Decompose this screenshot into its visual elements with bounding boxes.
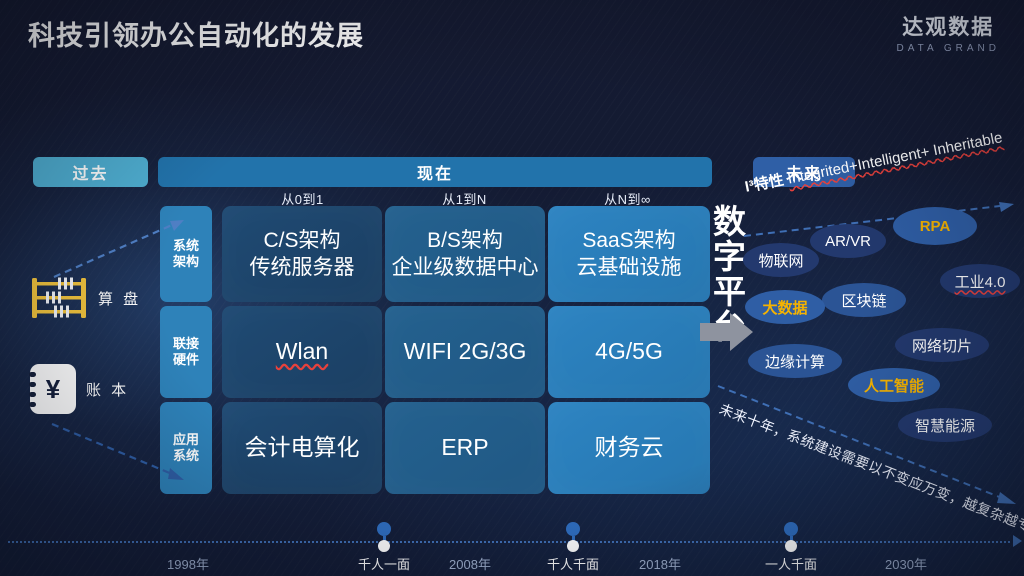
- tag-edge-computing: 边缘计算: [748, 344, 842, 378]
- grid-cell-app-finance-cloud: 财务云: [548, 402, 710, 494]
- grid-cell-hw-4g5g: 4G/5G: [548, 306, 710, 398]
- cell-line-1: B/S架构: [427, 229, 503, 252]
- cell-line-1: Wlan: [276, 337, 328, 367]
- grid-cell-arch-cs: C/S架构 传统服务器: [222, 206, 382, 302]
- grid-cell-hw-wifi: WIFI 2G/3G: [385, 306, 545, 398]
- row-label-connection-hardware: 联接硬件: [160, 306, 212, 398]
- brand-logo: 达观数据 DATA GRAND: [896, 16, 1000, 54]
- grid-cell-arch-bs: B/S架构 企业级数据中心: [385, 206, 545, 302]
- cell-text: B/S架构 企业级数据中心: [392, 227, 539, 282]
- legacy-item-ledger: ¥ 账 本: [30, 364, 129, 414]
- era-badge-now: 现在: [158, 157, 712, 187]
- ledger-icon: ¥: [30, 364, 76, 414]
- logo-english-name: DATA GRAND: [896, 43, 1000, 54]
- row-label-application-system: 应用系统: [160, 402, 212, 494]
- legacy-label-abacus: 算 盘: [98, 288, 141, 309]
- timeline-marker-0: [377, 522, 391, 552]
- timeline-milestone-2: 一人千面: [765, 554, 817, 573]
- page-title: 科技引领办公自动化的发展: [28, 14, 364, 53]
- cell-line-2: 传统服务器: [250, 256, 355, 279]
- timeline-arrow-icon: [1013, 535, 1022, 547]
- cell-line-1: C/S架构: [263, 229, 340, 252]
- timeline-year-2030: 2030年: [885, 554, 927, 573]
- era-badge-past: 过去: [33, 157, 148, 187]
- tag-ai: 人工智能: [848, 368, 940, 402]
- tag-blockchain: 区块链: [822, 283, 906, 317]
- row-label-text: 联接硬件: [173, 336, 199, 369]
- cell-line-2: 云基础设施: [577, 256, 682, 279]
- timeline-year-2008: 2008年: [449, 554, 491, 573]
- grid-cell-app-erp: ERP: [385, 402, 545, 494]
- cell-line-1: 4G/5G: [595, 337, 663, 367]
- tag-smart-energy: 智慧能源: [898, 408, 992, 442]
- tag-industry40: 工业4.0: [940, 264, 1020, 298]
- row-label-text: 应用系统: [173, 432, 199, 465]
- cell-line-1: WIFI 2G/3G: [404, 337, 527, 367]
- tag-label: 工业4.0: [955, 271, 1006, 292]
- timeline-year-1998: 1998年: [167, 554, 209, 573]
- tag-bigdata: 大数据: [745, 290, 825, 324]
- timeline-milestone-1: 千人千面: [547, 554, 599, 573]
- timeline-marker-1: [566, 522, 580, 552]
- tag-rpa: RPA: [893, 207, 977, 245]
- legacy-label-ledger: 账 本: [86, 379, 129, 400]
- i3-prefix: I³特性: [744, 172, 786, 196]
- timeline: 1998年 千人一面 2008年 千人千面 2018年 一人千面 2030年: [0, 520, 1024, 576]
- future-note-dashed-arrow-icon: [712, 380, 1024, 530]
- cell-text: C/S架构 传统服务器: [250, 227, 355, 282]
- abacus-icon: [30, 276, 88, 320]
- timeline-year-2018: 2018年: [639, 554, 681, 573]
- timeline-axis: [8, 541, 1010, 543]
- cell-line-1: 财务云: [595, 433, 664, 463]
- grid-cell-hw-wlan: Wlan: [222, 306, 382, 398]
- timeline-marker-2: [784, 522, 798, 552]
- grid-cell-arch-saas: SaaS架构 云基础设施: [548, 206, 710, 302]
- cell-text: SaaS架构 云基础设施: [577, 227, 682, 282]
- ledger-currency-symbol: ¥: [46, 374, 60, 405]
- logo-chinese-name: 达观数据: [896, 16, 1000, 39]
- tag-iot: 物联网: [743, 243, 819, 277]
- row-label-system-architecture: 系统架构: [160, 206, 212, 302]
- tag-network-slicing: 网络切片: [895, 328, 989, 362]
- row-label-text: 系统架构: [173, 238, 199, 271]
- right-arrow-icon: [700, 312, 754, 352]
- cell-line-1: SaaS架构: [582, 229, 675, 252]
- legacy-item-abacus: 算 盘: [30, 276, 141, 320]
- cell-line-2: 企业级数据中心: [392, 256, 539, 279]
- slide-canvas: 科技引领办公自动化的发展 达观数据 DATA GRAND 过去 现在 未来 从0…: [0, 0, 1024, 576]
- timeline-milestone-0: 千人一面: [358, 554, 410, 573]
- cell-line-1: 会计电算化: [245, 433, 360, 463]
- tag-arvr: AR/VR: [810, 224, 886, 258]
- grid-cell-app-accounting: 会计电算化: [222, 402, 382, 494]
- cell-line-1: ERP: [441, 433, 488, 463]
